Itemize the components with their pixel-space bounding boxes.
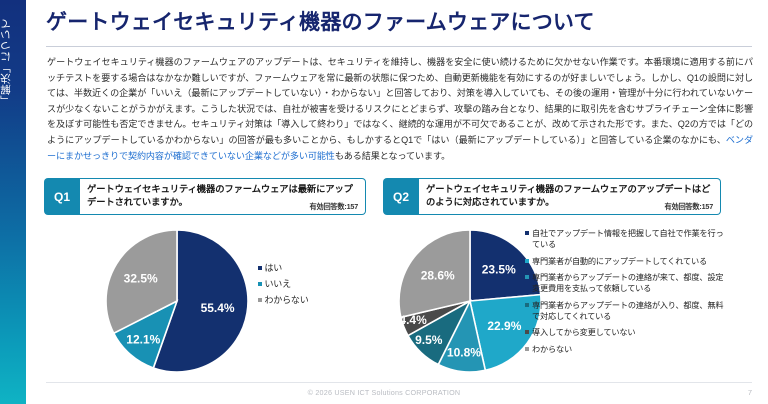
legend-q1: はいいいえわからない [258, 262, 368, 310]
pie-slice-label: 10.8% [447, 345, 481, 359]
pie-wrap-q2: 23.5%22.9%10.8%9.5%4.4%28.6% [397, 228, 543, 374]
question-panel-q1: Q1 ゲートウェイセキュリティ機器のファームウェアは最新にアップデートされていま… [44, 178, 366, 215]
legend-item: わからない [525, 344, 725, 355]
question-count-q1: 有効回答数:157 [309, 202, 358, 212]
legend-label: いいえ [265, 278, 369, 291]
side-tab: 「解決」について [0, 0, 26, 404]
pie-slice-label: 12.1% [126, 332, 160, 346]
legend-swatch-icon [525, 347, 529, 351]
body-paragraph: ゲートウェイセキュリティ機器のファームウェアのアップデートは、セキュリティを維持… [47, 55, 753, 164]
legend-label: 専門業者からアップデートの連絡が入り、都度、無料で対応してくれている [532, 300, 725, 322]
legend-q2: 自社でアップデート情報を把握して自社で作業を行っている専門業者が自動的にアップデ… [525, 228, 725, 360]
pie-slice-label: 23.5% [482, 263, 516, 277]
question-badge-q1: Q1 [44, 178, 80, 215]
legend-swatch-icon [525, 303, 529, 307]
legend-item: わからない [258, 294, 368, 307]
legend-item: 専門業者からアップデートの連絡が来て、都度、設定変更費用を支払って依頼している [525, 272, 725, 294]
pie-slice-label: 22.9% [487, 319, 521, 333]
body-text-part2: もある結果となっています。 [335, 151, 450, 161]
legend-swatch-icon [525, 330, 529, 334]
legend-swatch-icon [258, 298, 262, 302]
legend-item: はい [258, 262, 368, 275]
pie-slice-label: 55.4% [201, 301, 235, 315]
legend-label: 導入してから変更していない [532, 327, 725, 338]
legend-swatch-icon [525, 259, 529, 263]
legend-item: 自社でアップデート情報を把握して自社で作業を行っている [525, 228, 725, 250]
legend-label: 専門業者からアップデートの連絡が来て、都度、設定変更費用を支払って依頼している [532, 272, 725, 294]
title-divider [46, 46, 752, 47]
pie-slice-label: 32.5% [124, 272, 158, 286]
legend-label: はい [265, 262, 369, 275]
question-box-q2: ゲートウェイセキュリティ機器のファームウェアのアップデートはどのように対応されて… [419, 178, 721, 215]
legend-label: 専門業者が自動的にアップデートしてくれている [532, 256, 725, 267]
pie-chart-q1: 55.4%12.1%32.5% [104, 228, 250, 374]
slide-canvas: 「解決」について ゲートウェイセキュリティ機器のファームウェアについて ゲートウ… [0, 0, 768, 404]
pie-slice-label: 28.6% [421, 268, 455, 282]
question-panel-q2: Q2 ゲートウェイセキュリティ機器のファームウェアのアップデートはどのように対応… [383, 178, 721, 215]
question-badge-q2: Q2 [383, 178, 419, 215]
footer-divider [46, 382, 752, 383]
legend-swatch-icon [258, 266, 262, 270]
page-title: ゲートウェイセキュリティ機器のファームウェアについて [46, 10, 756, 36]
footer-page-number: 7 [748, 388, 752, 397]
legend-item: 専門業者からアップデートの連絡が入り、都度、無料で対応してくれている [525, 300, 725, 322]
page-title-row: ゲートウェイセキュリティ機器のファームウェアについて [46, 10, 756, 36]
legend-swatch-icon [525, 275, 529, 279]
legend-swatch-icon [258, 282, 262, 286]
pie-wrap-q1: 55.4%12.1%32.5% [104, 228, 250, 374]
legend-swatch-icon [525, 231, 529, 235]
legend-item: 専門業者が自動的にアップデートしてくれている [525, 256, 725, 267]
footer-copyright: © 2026 USEN ICT Solutions CORPORATION [0, 388, 768, 397]
pie-slice-label: 4.4% [399, 313, 427, 327]
pie-slice-label: 9.5% [415, 333, 443, 347]
pie-chart-q2: 23.5%22.9%10.8%9.5%4.4%28.6% [397, 228, 543, 374]
question-count-q2: 有効回答数:157 [664, 202, 713, 212]
chart-q1: 55.4%12.1%32.5% はいいいえわからない [44, 222, 374, 380]
body-text-part1: ゲートウェイセキュリティ機器のファームウェアのアップデートは、セキュリティを維持… [47, 57, 753, 145]
chart-q2: 23.5%22.9%10.8%9.5%4.4%28.6% 自社でアップデート情報… [383, 222, 728, 380]
legend-label: 自社でアップデート情報を把握して自社で作業を行っている [532, 228, 725, 250]
question-box-q1: ゲートウェイセキュリティ機器のファームウェアは最新にアップデートされていますか。… [80, 178, 366, 215]
legend-item: いいえ [258, 278, 368, 291]
legend-label: わからない [532, 344, 725, 355]
legend-label: わからない [265, 294, 369, 307]
side-tab-label: 「解決」について [0, 14, 26, 110]
legend-item: 導入してから変更していない [525, 327, 725, 338]
